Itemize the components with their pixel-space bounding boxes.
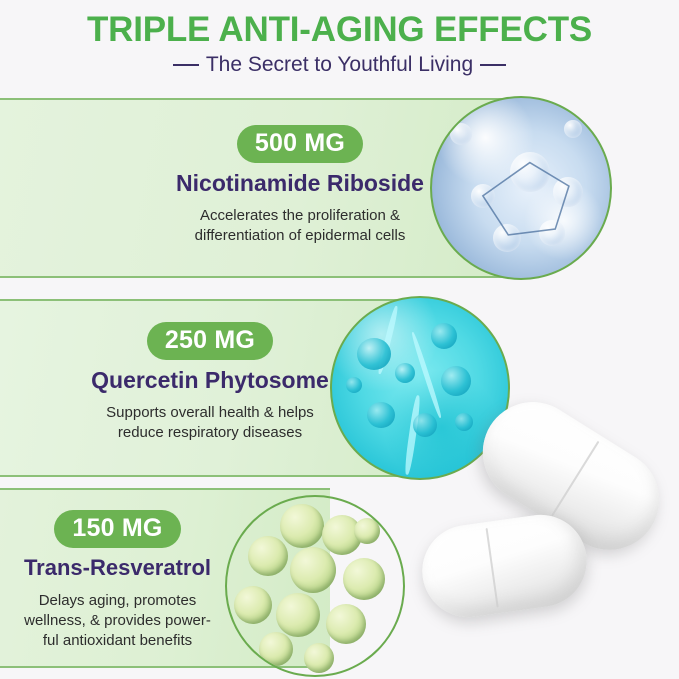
capsule-seam: [551, 441, 599, 517]
description-line: Supports overall health & helps: [80, 403, 340, 423]
description-line: wellness, & provides power-: [10, 611, 225, 631]
ingredient-name-1: Nicotinamide Riboside: [150, 169, 450, 197]
capsule-front: [416, 509, 592, 623]
header: TRIPLE ANTI-AGING EFFECTS The Secret to …: [0, 0, 679, 77]
ingredient-text-2: 250 MG Quercetin Phytosome Supports over…: [80, 322, 340, 443]
white-capsules-photo: [420, 420, 679, 679]
dose-badge-2: 250 MG: [147, 322, 273, 360]
dose-badge-3: 150 MG: [54, 510, 180, 548]
grape: [234, 586, 272, 624]
dose-badge-1: 500 MG: [237, 125, 363, 163]
infographic-canvas: TRIPLE ANTI-AGING EFFECTS The Secret to …: [0, 0, 679, 679]
subtitle-row: The Secret to Youthful Living: [0, 52, 679, 77]
ingredient-text-3: 150 MG Trans-Resveratrol Delays aging, p…: [10, 510, 225, 651]
description-line: reduce respiratory diseases: [80, 423, 340, 443]
grape: [259, 632, 293, 666]
grape: [280, 504, 324, 548]
description-line: Delays aging, promotes: [10, 591, 225, 611]
grape: [326, 604, 366, 644]
grape: [248, 536, 288, 576]
molecule-bonds-icon: [432, 98, 610, 278]
grape: [276, 593, 320, 637]
cell-blob: [431, 323, 457, 349]
page-subtitle: The Secret to Youthful Living: [206, 52, 473, 77]
description-line: ful antioxidant benefits: [10, 631, 225, 651]
ingredient-description-2: Supports overall health & helps reduce r…: [80, 403, 340, 443]
ingredient-text-1: 500 MG Nicotinamide Riboside Accelerates…: [150, 125, 450, 246]
cell-blob: [357, 338, 391, 370]
molecule-decoration: [432, 98, 610, 278]
molecule-bubbles-photo: [430, 96, 612, 280]
cell-blob: [346, 377, 362, 393]
description-line: differentiation of epidermal cells: [150, 226, 450, 246]
capsule-seam: [486, 527, 499, 607]
subtitle-dash-left: [173, 64, 199, 66]
ingredient-description-3: Delays aging, promotes wellness, & provi…: [10, 591, 225, 651]
ingredient-name-2: Quercetin Phytosome: [80, 366, 340, 394]
grape: [290, 547, 336, 593]
cell-blob: [395, 363, 415, 383]
subtitle-dash-right: [480, 64, 506, 66]
ingredient-description-1: Accelerates the proliferation & differen…: [150, 206, 450, 246]
grape: [343, 558, 385, 600]
ingredient-name-3: Trans-Resveratrol: [10, 554, 225, 582]
green-grapes-photo: [225, 495, 405, 677]
page-title: TRIPLE ANTI-AGING EFFECTS: [0, 0, 679, 50]
grape: [304, 643, 334, 673]
cell-blob: [441, 366, 471, 396]
cell-blob: [367, 402, 395, 428]
grape: [354, 518, 380, 544]
description-line: Accelerates the proliferation &: [150, 206, 450, 226]
